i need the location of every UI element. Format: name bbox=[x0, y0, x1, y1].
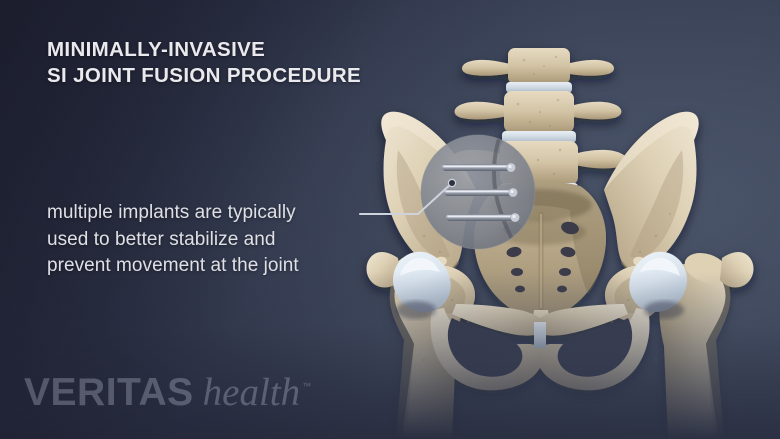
watermark-brand: VERITAS bbox=[24, 373, 194, 412]
caption-line-2: used to better stabilize and bbox=[47, 227, 299, 254]
watermark-word: health bbox=[203, 373, 300, 412]
illustration-canvas: MINIMALLY-INVASIVE SI JOINT FUSION PROCE… bbox=[0, 0, 780, 439]
trademark-icon: ™ bbox=[302, 381, 311, 391]
title-line-1: MINIMALLY-INVASIVE bbox=[47, 37, 361, 63]
title-line-2: SI JOINT FUSION PROCEDURE bbox=[47, 63, 361, 89]
veritas-health-watermark: VERITAS health ™ bbox=[24, 373, 311, 412]
caption-line-3: prevent movement at the joint bbox=[47, 253, 299, 280]
caption-line-1: multiple implants are typically bbox=[47, 200, 299, 227]
annotation-caption: multiple implants are typically used to … bbox=[47, 200, 299, 280]
page-title: MINIMALLY-INVASIVE SI JOINT FUSION PROCE… bbox=[47, 37, 361, 89]
leader-line-endpoint bbox=[448, 179, 455, 186]
